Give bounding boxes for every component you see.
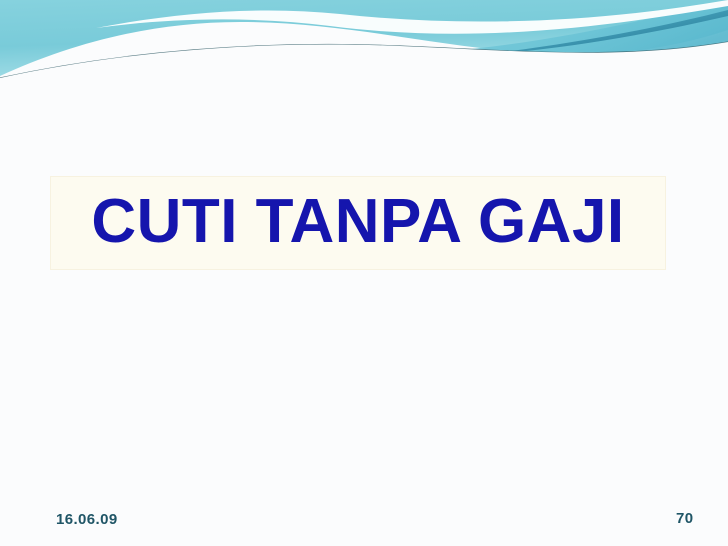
presentation-slide: CUTI TANPA GAJI 16.06.09 70: [0, 0, 728, 546]
footer-page-number: 70: [676, 510, 694, 527]
wave-shape-secondary: [440, 0, 728, 58]
slide-title-box: CUTI TANPA GAJI: [50, 176, 666, 270]
header-wave-decoration: [0, 0, 728, 96]
footer-date: 16.06.09: [56, 511, 118, 528]
wave-outline-curve: [0, 42, 728, 78]
wave-shape-primary: [0, 0, 728, 76]
wave-bottom-fill: [0, 42, 728, 96]
slide-title: CUTI TANPA GAJI: [91, 191, 624, 253]
wave-shape-dark-ribbon: [470, 10, 728, 56]
wave-outline-curve-soft: [0, 50, 728, 86]
wave-shape-white-swoosh: [96, 0, 728, 34]
